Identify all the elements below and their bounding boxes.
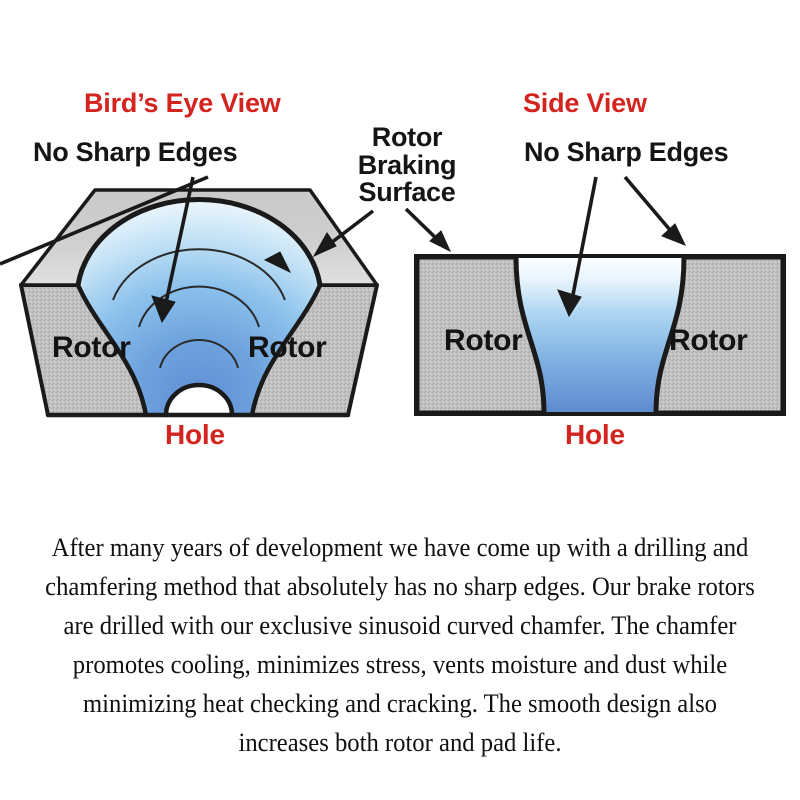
birds-eye-view-title: Bird’s Eye View xyxy=(84,88,281,119)
description-paragraph: After many years of development we have … xyxy=(35,528,764,762)
side-view-no-sharp-edges-label: No Sharp Edges xyxy=(524,137,728,168)
birds-eye-rotor-right-text: Rotor xyxy=(248,331,326,365)
side-view-hole-text: Hole xyxy=(565,419,625,451)
birds-eye-hole-text: Hole xyxy=(165,419,225,451)
diagram-page: Bird’s Eye View No Sharp Edges Rotor Bra… xyxy=(0,0,800,800)
side-view-rotor-left-text: Rotor xyxy=(444,324,522,358)
side-view-rotor-right-text: Rotor xyxy=(669,324,747,358)
arrow-no-sharp-edges-right-outer-shaft xyxy=(625,177,676,237)
side-view-title: Side View xyxy=(523,88,647,119)
birds-eye-rotor-left-text: Rotor xyxy=(52,331,130,365)
rotor-braking-surface-label: Rotor Braking Surface xyxy=(344,124,470,207)
birds-eye-view-block xyxy=(21,190,377,415)
birds-eye-no-sharp-edges-label: No Sharp Edges xyxy=(33,137,237,168)
